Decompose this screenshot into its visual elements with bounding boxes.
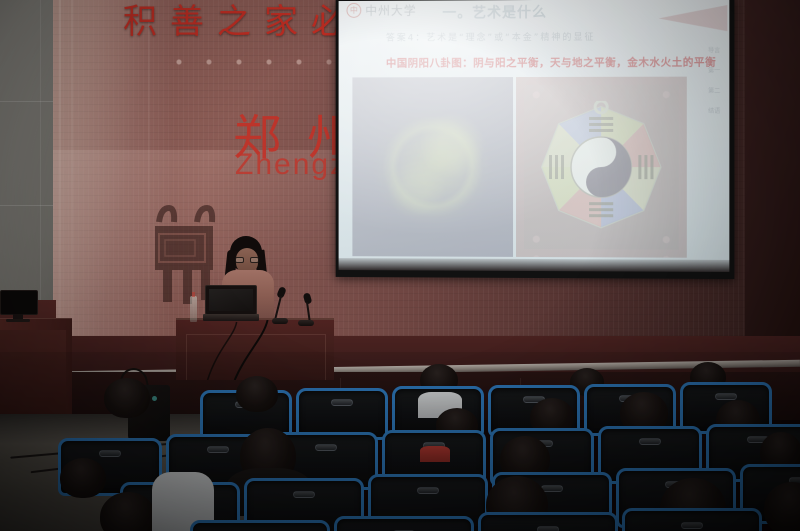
slide-section-sidebar: 导言 第一 第二 结语 [701, 45, 727, 115]
bagua-yinyang-diagram [516, 77, 687, 258]
lecture-hall-photo: 积善之家必有 郑州 Zhengzh 堂 hall 中 中州大学 一。 [0, 0, 800, 531]
projected-slide: 中 中州大学 一。艺术是什么 答案4：艺术是“理念”或“本金”精神的显征 中国阴… [339, 0, 730, 272]
presenter-laptop [203, 285, 259, 323]
right-wall-band [745, 0, 800, 341]
audience-area [0, 352, 800, 531]
slide-red-headline: 中国阴阳八卦图：阴与阳之平衡，天与地之平衡，金木水火土的平衡 [386, 54, 716, 70]
auditorium-seat [622, 508, 762, 531]
university-seal-icon: 中 [346, 3, 361, 18]
projection-screen: 中 中州大学 一。艺术是什么 答案4：艺术是“理念”或“本金”精神的显征 中国阴… [336, 0, 735, 279]
slide-sidebar-item-1: 第一 [708, 65, 720, 74]
slide-sidebar-item-0: 导言 [708, 45, 720, 54]
audience-shirt [420, 446, 450, 462]
audience-head [60, 458, 106, 498]
slide-triangle-decoration [659, 5, 728, 31]
auditorium-seat [334, 516, 474, 531]
slide-sidebar-item-2: 第二 [708, 86, 720, 95]
audience-head [104, 378, 150, 418]
slide-logo-text: 中州大学 [365, 2, 416, 19]
slide-title: 一。艺术是什么 [442, 2, 547, 22]
water-bottle [190, 296, 197, 322]
audience-head [236, 376, 278, 412]
glasses-icon [235, 257, 259, 263]
slide-image-row [352, 77, 687, 258]
desk-monitor [0, 290, 38, 322]
slide-university-logo: 中 中州大学 [346, 2, 416, 19]
slide-answer-line: 答案4：艺术是“理念”或“本金”精神的显征 [386, 30, 596, 44]
slide-sidebar-item-3: 结语 [708, 106, 720, 115]
auditorium-seat [190, 520, 330, 531]
nebula-photo [352, 77, 513, 257]
auditorium-seat [478, 512, 618, 531]
